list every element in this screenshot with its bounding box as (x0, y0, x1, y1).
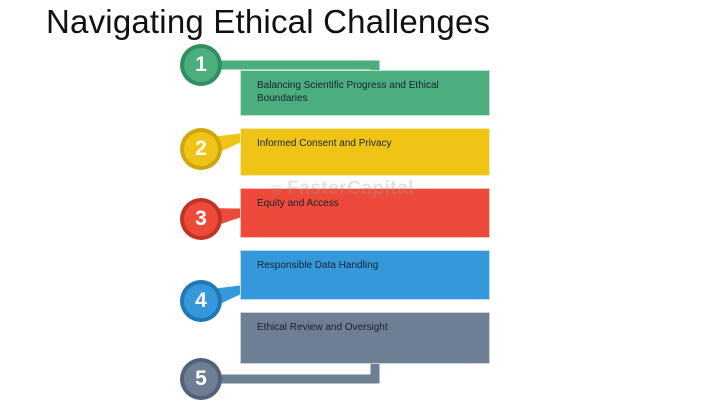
slide-canvas: Navigating Ethical Challenges Balancing … (0, 0, 720, 405)
page-title: Navigating Ethical Challenges (46, 2, 490, 42)
numbered-steps-diagram: Balancing Scientific Progress and Ethica… (0, 40, 720, 405)
step-number: 5 (180, 358, 222, 400)
step-number-badge[interactable]: 5 (180, 358, 222, 400)
step-bar[interactable]: Ethical Review and Oversight (240, 312, 490, 364)
step-label: Ethical Review and Oversight (257, 322, 479, 335)
